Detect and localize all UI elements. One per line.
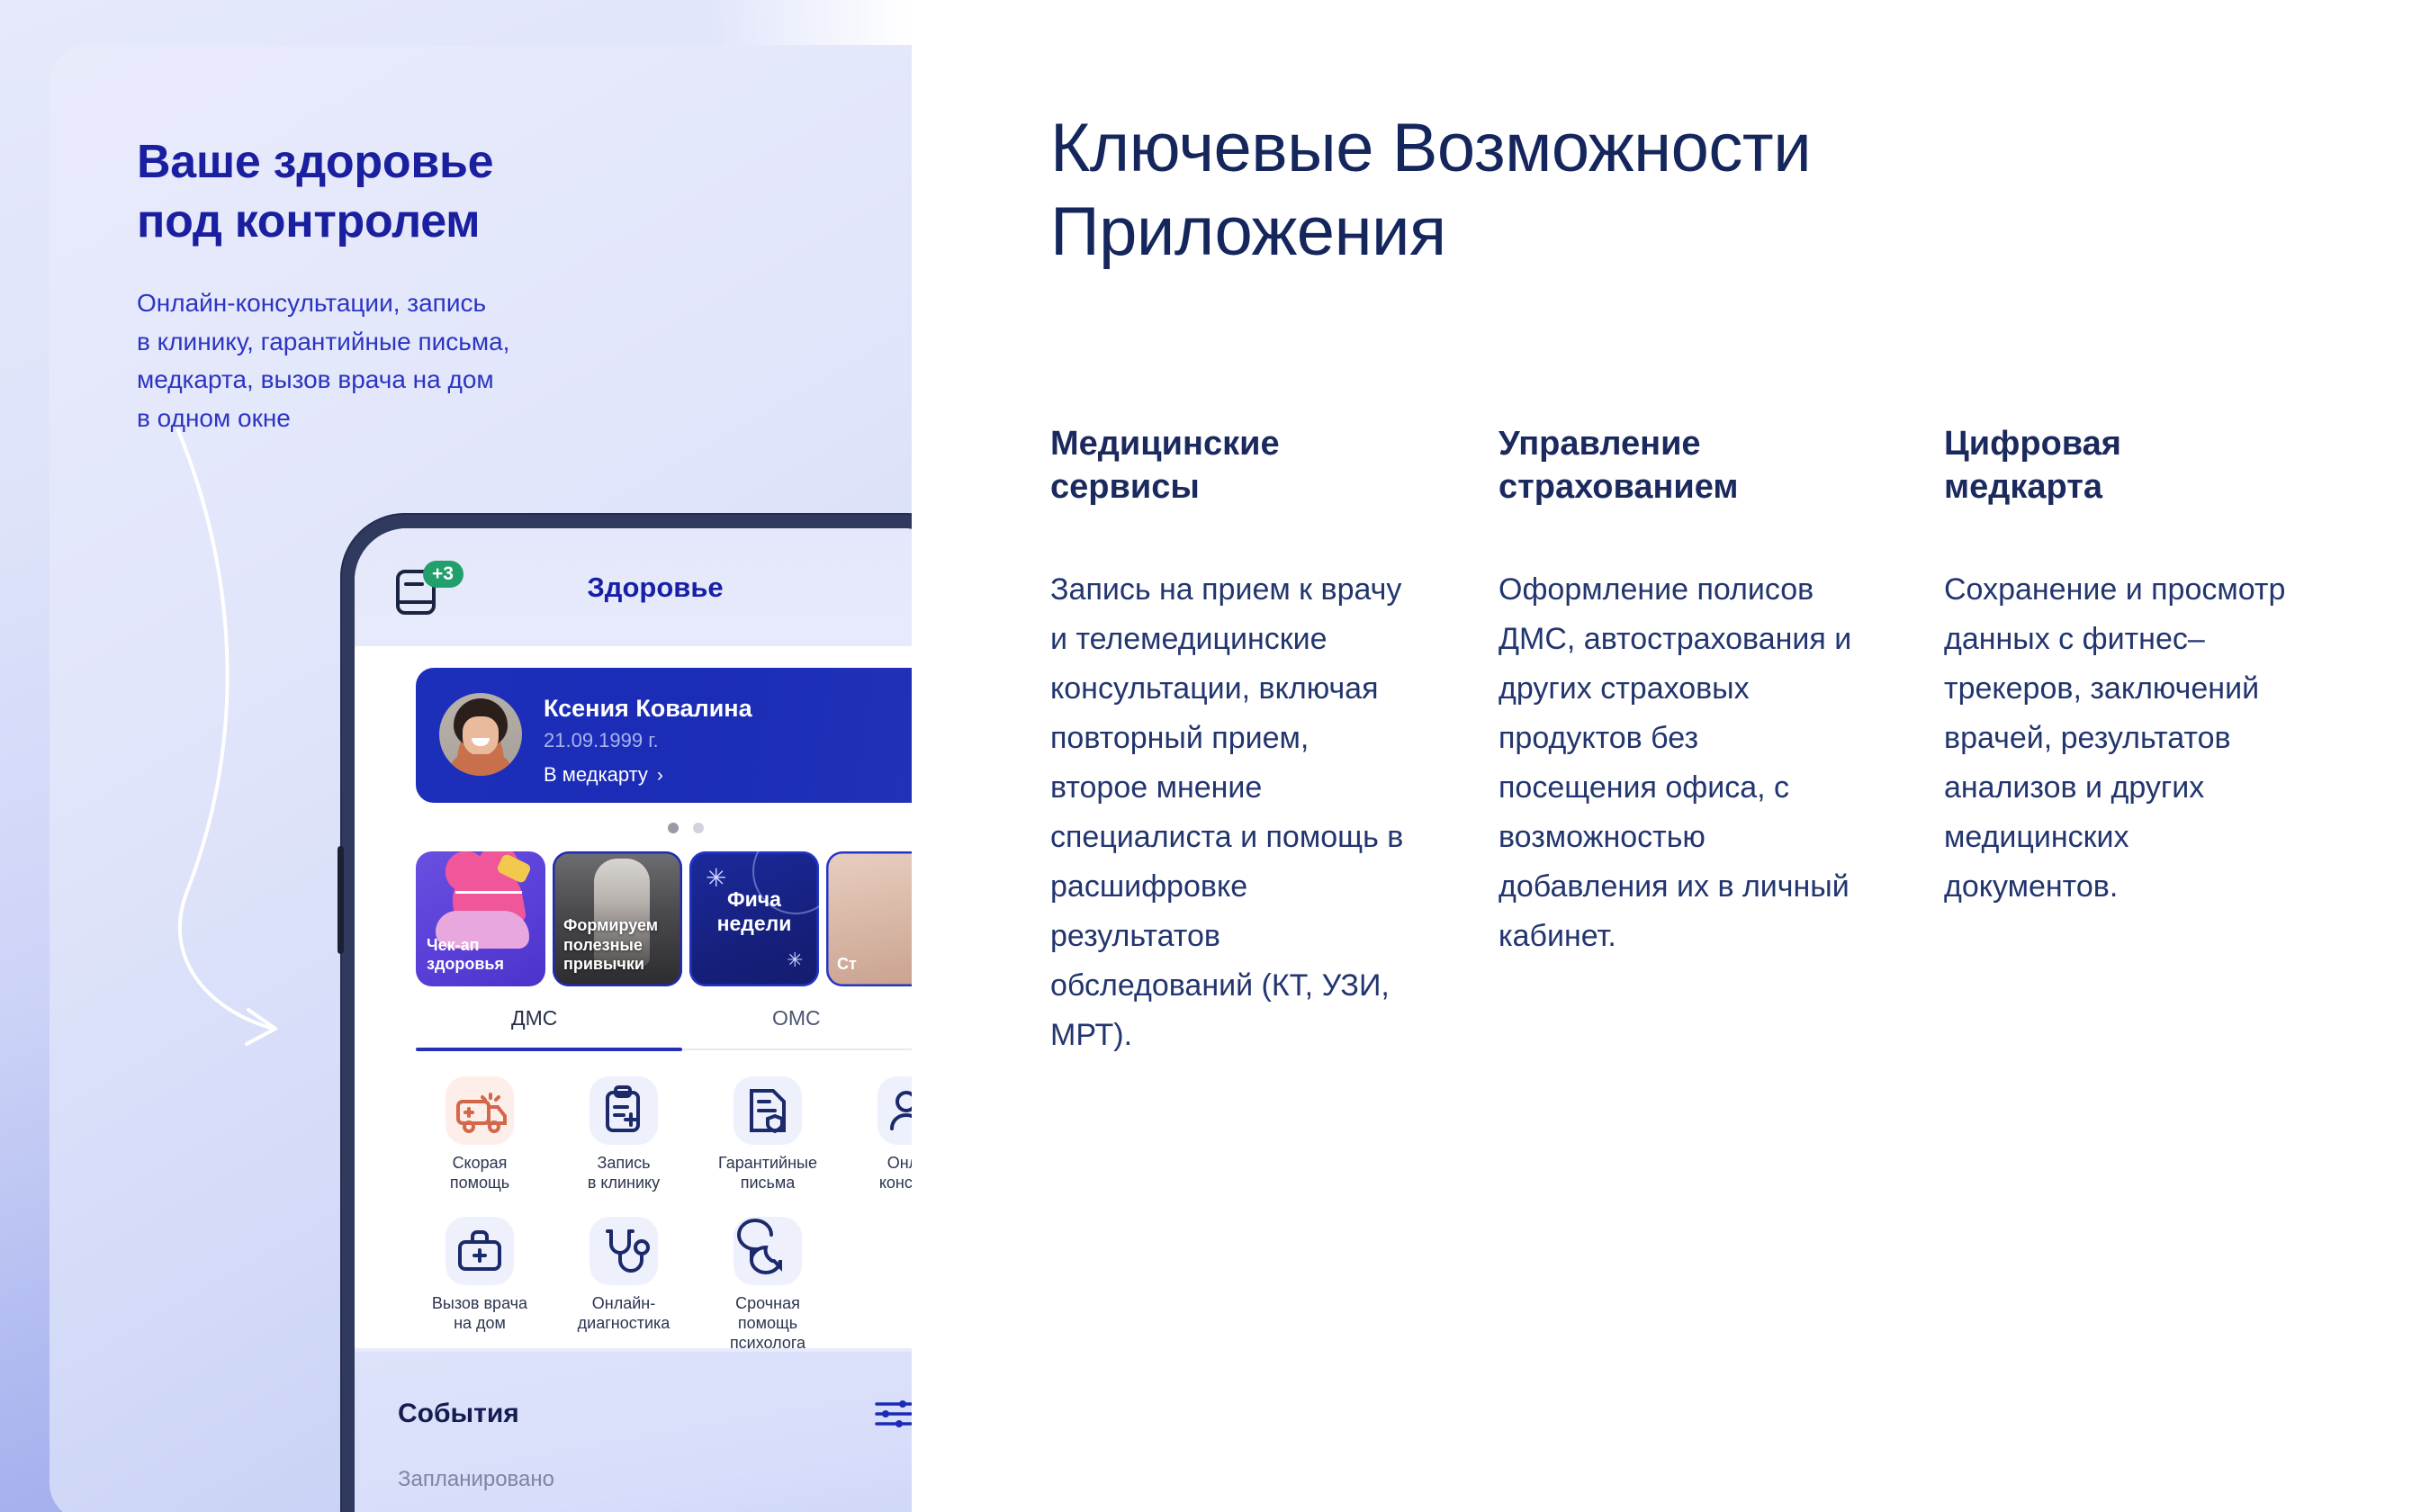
- service-ambulance[interactable]: Скорая помощь: [412, 1076, 547, 1193]
- tile-feature-of-week[interactable]: ✳ Фича недели ✳: [689, 851, 819, 986]
- dot-active[interactable]: [668, 823, 679, 833]
- filter-icon[interactable]: [875, 1399, 912, 1429]
- tile-checkup[interactable]: Чек-ап здоровья: [416, 851, 545, 986]
- chevron-right-icon: ›: [657, 765, 663, 787]
- feature-heading: Управление страхованием: [1498, 423, 1858, 509]
- service-label: Вызов врача на дом: [412, 1294, 547, 1334]
- service-appointment[interactable]: Запись в клинику: [556, 1076, 691, 1193]
- feature-column-digital-medcard: Цифровая медкарта Сохранение и просмотр …: [1944, 423, 2304, 912]
- promo-tiles: Чек-ап здоровья Формируем полезные привы…: [416, 851, 912, 986]
- phone-screen: +3 Здоровье Ксения Ковалина 21.09.1999 г…: [355, 528, 912, 1512]
- medcard-link-label: В медкарту: [544, 763, 648, 786]
- tile-label: Формируем полезные привычки: [563, 916, 675, 974]
- promo-subtitle: Онлайн-консультации, запись в клинику, г…: [137, 284, 713, 437]
- slide-root: Ваше здоровье под контролем Онлайн-консу…: [0, 0, 2430, 1512]
- profile-name: Ксения Ковалина: [544, 695, 752, 723]
- feature-heading: Цифровая медкарта: [1944, 423, 2304, 509]
- tab-dms[interactable]: ДМС: [511, 1006, 557, 1030]
- stethoscope-icon: [589, 1217, 658, 1285]
- tile-label: Чек-ап здоровья: [427, 936, 538, 974]
- service-label: Онлай консульт: [844, 1154, 912, 1193]
- tile-label: Ст: [837, 955, 912, 974]
- feature-body: Оформление полисов ДМС, автострахования …: [1498, 565, 1858, 962]
- feature-column-insurance: Управление страхованием Оформление полис…: [1498, 423, 1858, 961]
- events-subtitle: Запланировано: [398, 1467, 554, 1492]
- app-header: +3 Здоровье: [355, 528, 912, 645]
- screen-title: Здоровье: [355, 571, 912, 604]
- sparkle-icon: ✳: [787, 950, 803, 970]
- curved-arrow-icon: [135, 423, 369, 1053]
- service-home-visit[interactable]: Вызов врача на дом: [412, 1217, 547, 1334]
- events-section: События Запланировано: [355, 1352, 912, 1512]
- clipboard-plus-icon: [589, 1076, 658, 1145]
- service-label: Онлайн- диагностика: [556, 1294, 691, 1334]
- tab-oms[interactable]: ОМС: [772, 1006, 821, 1030]
- promo-panel: Ваше здоровье под контролем Онлайн-консу…: [0, 0, 912, 1512]
- features-panel: Ключевые Возможности Приложения Медицинс…: [912, 0, 2430, 1512]
- insurance-tabs: ДМС ОМС: [416, 1006, 912, 1058]
- profile-card[interactable]: Ксения Ковалина 21.09.1999 г. В медкарту…: [416, 668, 912, 803]
- events-title: События: [398, 1399, 519, 1429]
- ambulance-icon: [445, 1076, 514, 1145]
- tile-label: Фича недели: [689, 887, 819, 935]
- service-label: Гарантийные письма: [700, 1154, 835, 1193]
- profile-dob: 21.09.1999 г.: [544, 729, 659, 752]
- medkit-icon: [445, 1217, 514, 1285]
- feature-heading: Медицинские сервисы: [1050, 423, 1410, 509]
- promo-heading: Ваше здоровье под контролем: [137, 133, 695, 251]
- service-online-diagnostics[interactable]: Онлайн- диагностика: [556, 1217, 691, 1334]
- phone-mockup: +3 Здоровье Ксения Ковалина 21.09.1999 г…: [340, 513, 912, 1512]
- service-label: Срочная помощь психолога: [700, 1294, 835, 1354]
- service-online-consult[interactable]: Онлай консульт: [844, 1076, 912, 1193]
- service-label: Запись в клинику: [556, 1154, 691, 1193]
- feature-body: Сохранение и просмотр данных с фитнес–тр…: [1944, 565, 2304, 913]
- tile-partial[interactable]: Ст: [826, 851, 912, 986]
- volume-button[interactable]: [337, 846, 344, 954]
- tile-habits[interactable]: Формируем полезные привычки: [553, 851, 682, 986]
- feature-column-medical-services: Медицинские сервисы Запись на прием к вр…: [1050, 423, 1410, 1061]
- online-consult-icon: [877, 1076, 912, 1145]
- document-shield-icon: [733, 1076, 802, 1145]
- avatar: [439, 693, 522, 776]
- content-sheet: Ксения Ковалина 21.09.1999 г. В медкарту…: [355, 646, 912, 1348]
- tab-underline: [416, 1048, 682, 1051]
- page-title: Ключевые Возможности Приложения: [1050, 106, 2274, 274]
- service-label: Скорая помощь: [412, 1154, 547, 1193]
- service-guarantee-letters[interactable]: Гарантийные письма: [700, 1076, 835, 1193]
- service-psychologist[interactable]: Срочная помощь психолога: [700, 1217, 835, 1354]
- medcard-link[interactable]: В медкарту›: [544, 763, 663, 787]
- feature-body: Запись на прием к врачу и телемедицински…: [1050, 565, 1410, 1061]
- chat-bubbles-icon: [733, 1217, 802, 1285]
- dot-inactive[interactable]: [693, 823, 704, 833]
- carousel-dots[interactable]: [376, 822, 912, 838]
